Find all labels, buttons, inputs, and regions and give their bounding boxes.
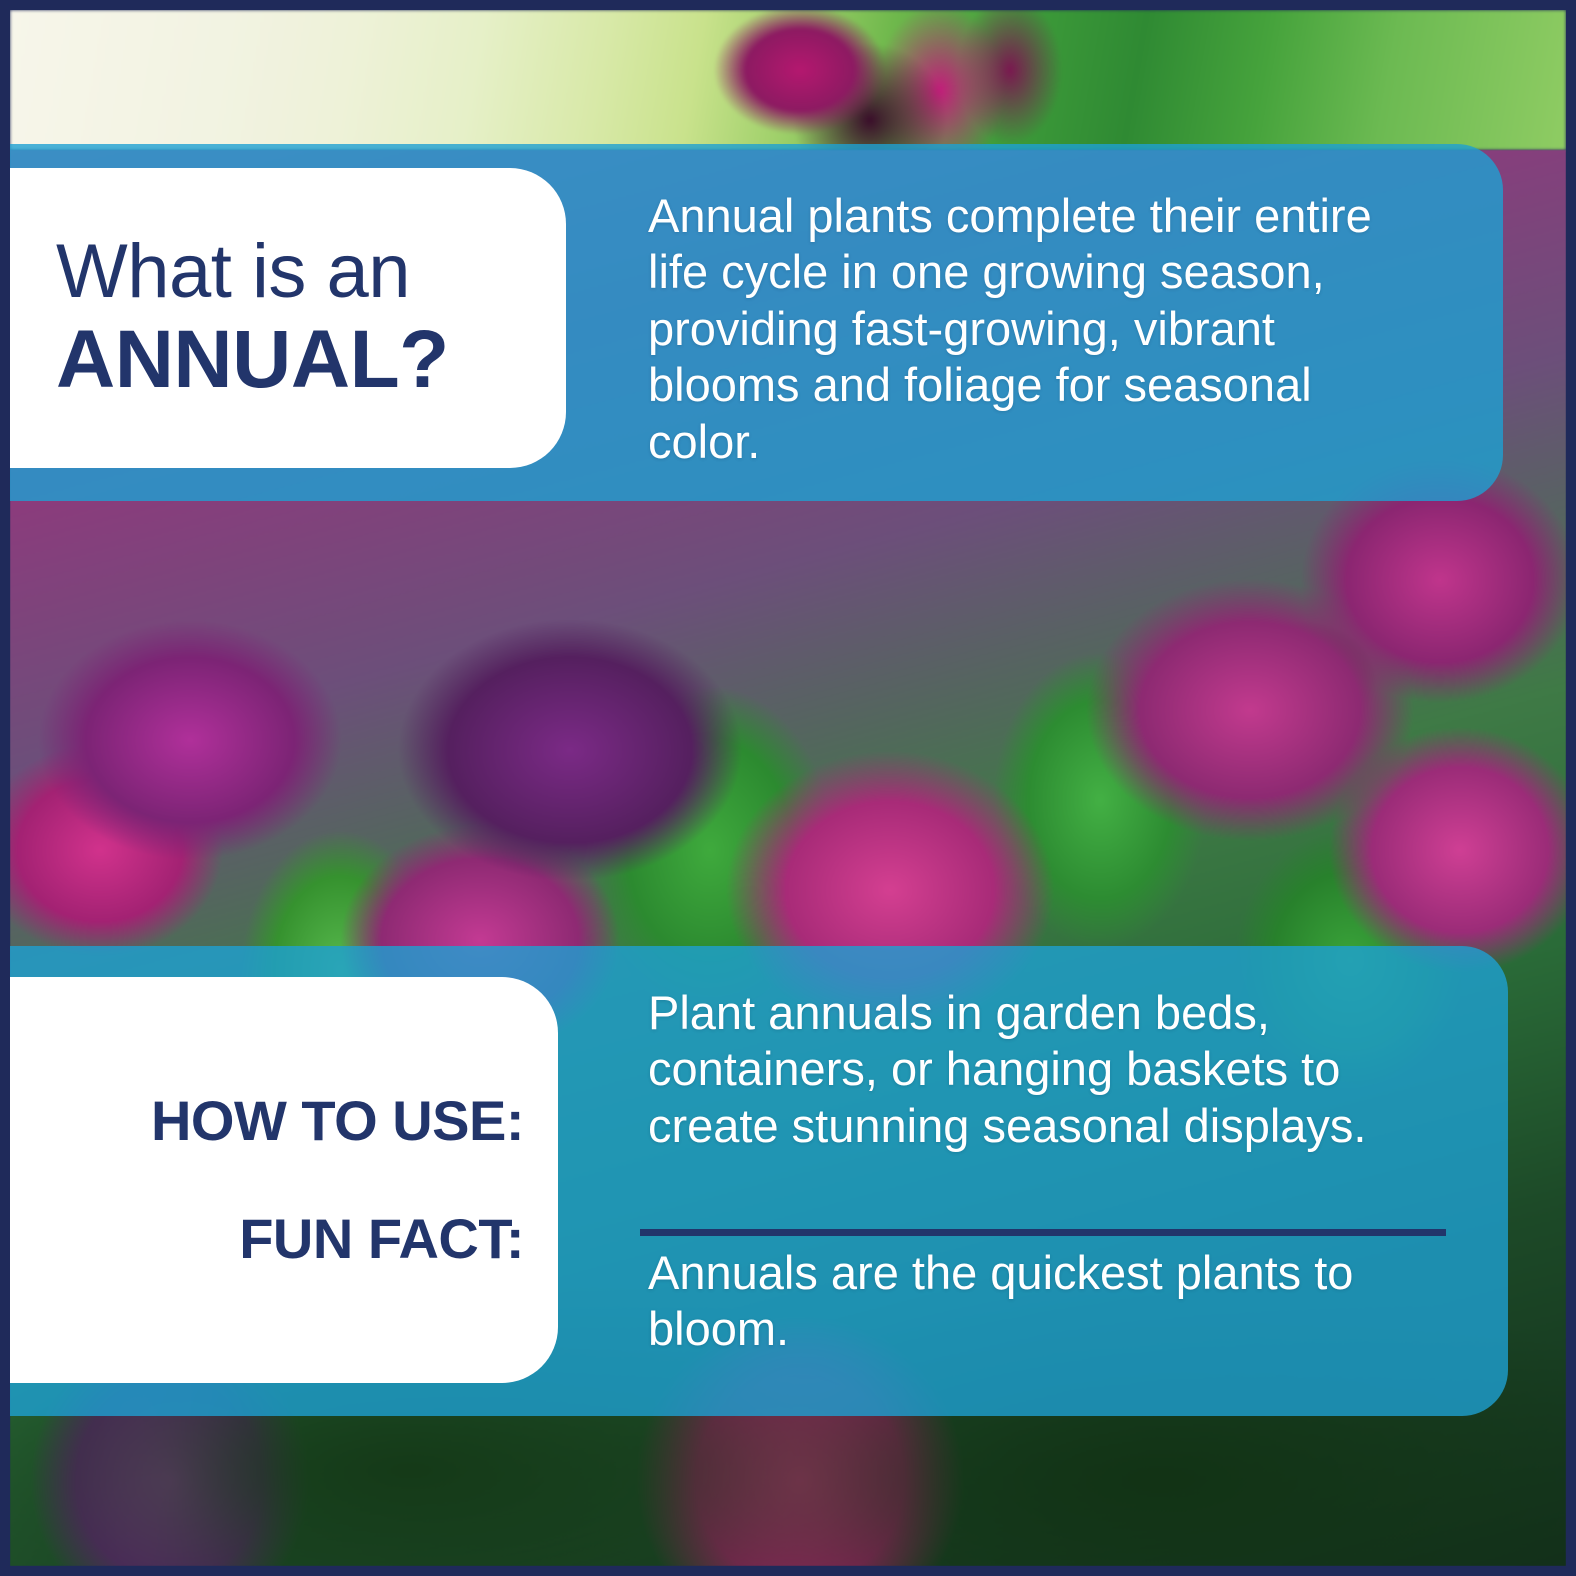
fun-fact-label: FUN FACT: <box>239 1211 524 1267</box>
how-to-use-body-text: Plant annuals in garden beds, containers… <box>648 985 1460 1154</box>
fun-fact-body-text: Annuals are the quickest plants to bloom… <box>648 1245 1408 1358</box>
section-labels-card: HOW TO USE: FUN FACT: <box>10 977 558 1383</box>
section-divider <box>640 1229 1446 1236</box>
title-card: What is an ANNUAL? <box>10 168 566 468</box>
page-title-line1: What is an <box>56 233 566 311</box>
page-title-line2: ANNUAL? <box>56 317 566 403</box>
definition-body-text: Annual plants complete their entire life… <box>648 188 1408 470</box>
how-to-use-label: HOW TO USE: <box>151 1093 524 1149</box>
infographic-canvas: What is an ANNUAL? Annual plants complet… <box>0 0 1576 1576</box>
petunia-photo-top <box>10 10 1566 150</box>
